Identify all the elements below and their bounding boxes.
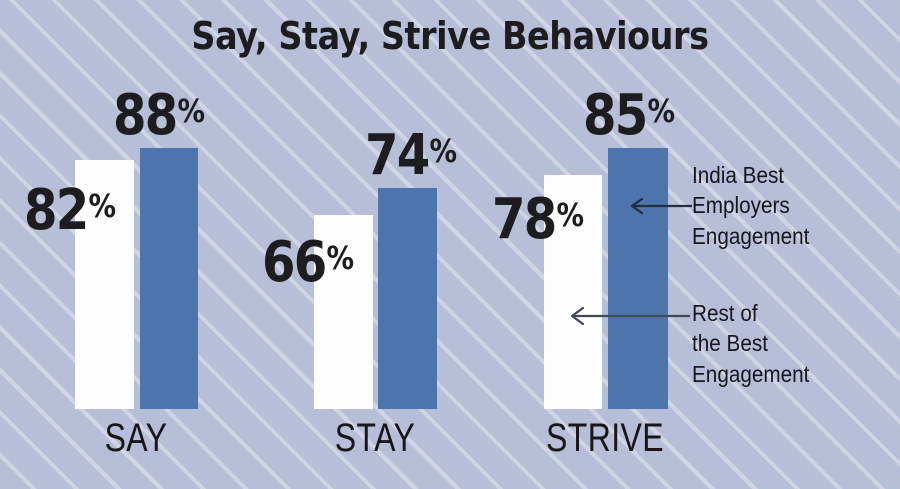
percent-sign: % <box>429 132 456 170</box>
annotation-arrow-india-best-employers <box>628 196 694 216</box>
page-title: Say, Stay, Strive Behaviours <box>54 14 846 58</box>
value-number: 78 <box>492 187 556 252</box>
value-number: 82 <box>24 178 88 243</box>
value-number: 88 <box>113 83 177 148</box>
percent-sign: % <box>326 239 353 277</box>
category-label-say: SAY <box>56 418 216 458</box>
percent-sign: % <box>177 92 204 130</box>
category-label-stay: STAY <box>295 418 455 458</box>
value-label-stay-india-best-employers: 74% <box>365 128 455 184</box>
percent-sign: % <box>647 92 674 130</box>
annotation-line: Rest of <box>692 298 809 328</box>
annotation-arrow-rest-of-the-best <box>568 306 692 326</box>
value-label-stay-rest-of-the-best: 66% <box>262 235 352 291</box>
annotation-line: India Best <box>692 160 809 190</box>
value-label-say-india-best-employers: 88% <box>113 88 203 144</box>
percent-sign: % <box>556 196 583 234</box>
annotation-india-best-employers: India Best Employers Engagement <box>692 160 809 251</box>
value-label-strive-rest-of-the-best: 78% <box>492 192 582 248</box>
value-label-strive-india-best-employers: 85% <box>583 88 673 144</box>
annotation-rest-of-the-best: Rest of the Best Engagement <box>692 298 809 389</box>
percent-sign: % <box>88 187 115 225</box>
bar-stay-india-best-employers <box>378 188 437 409</box>
annotation-line: Employers <box>692 190 809 220</box>
chart-canvas: Say, Stay, Strive Behaviours 82% 88% SAY… <box>0 0 900 489</box>
annotation-line: Engagement <box>692 359 809 389</box>
value-number: 74 <box>365 123 429 188</box>
annotation-line: the Best <box>692 328 809 358</box>
value-number: 85 <box>583 83 647 148</box>
bar-say-india-best-employers <box>140 148 198 409</box>
value-label-say-rest-of-the-best: 82% <box>24 183 114 239</box>
bar-strive-india-best-employers <box>608 148 668 409</box>
category-label-strive: STRIVE <box>525 418 685 458</box>
annotation-line: Engagement <box>692 221 809 251</box>
value-number: 66 <box>262 230 326 295</box>
